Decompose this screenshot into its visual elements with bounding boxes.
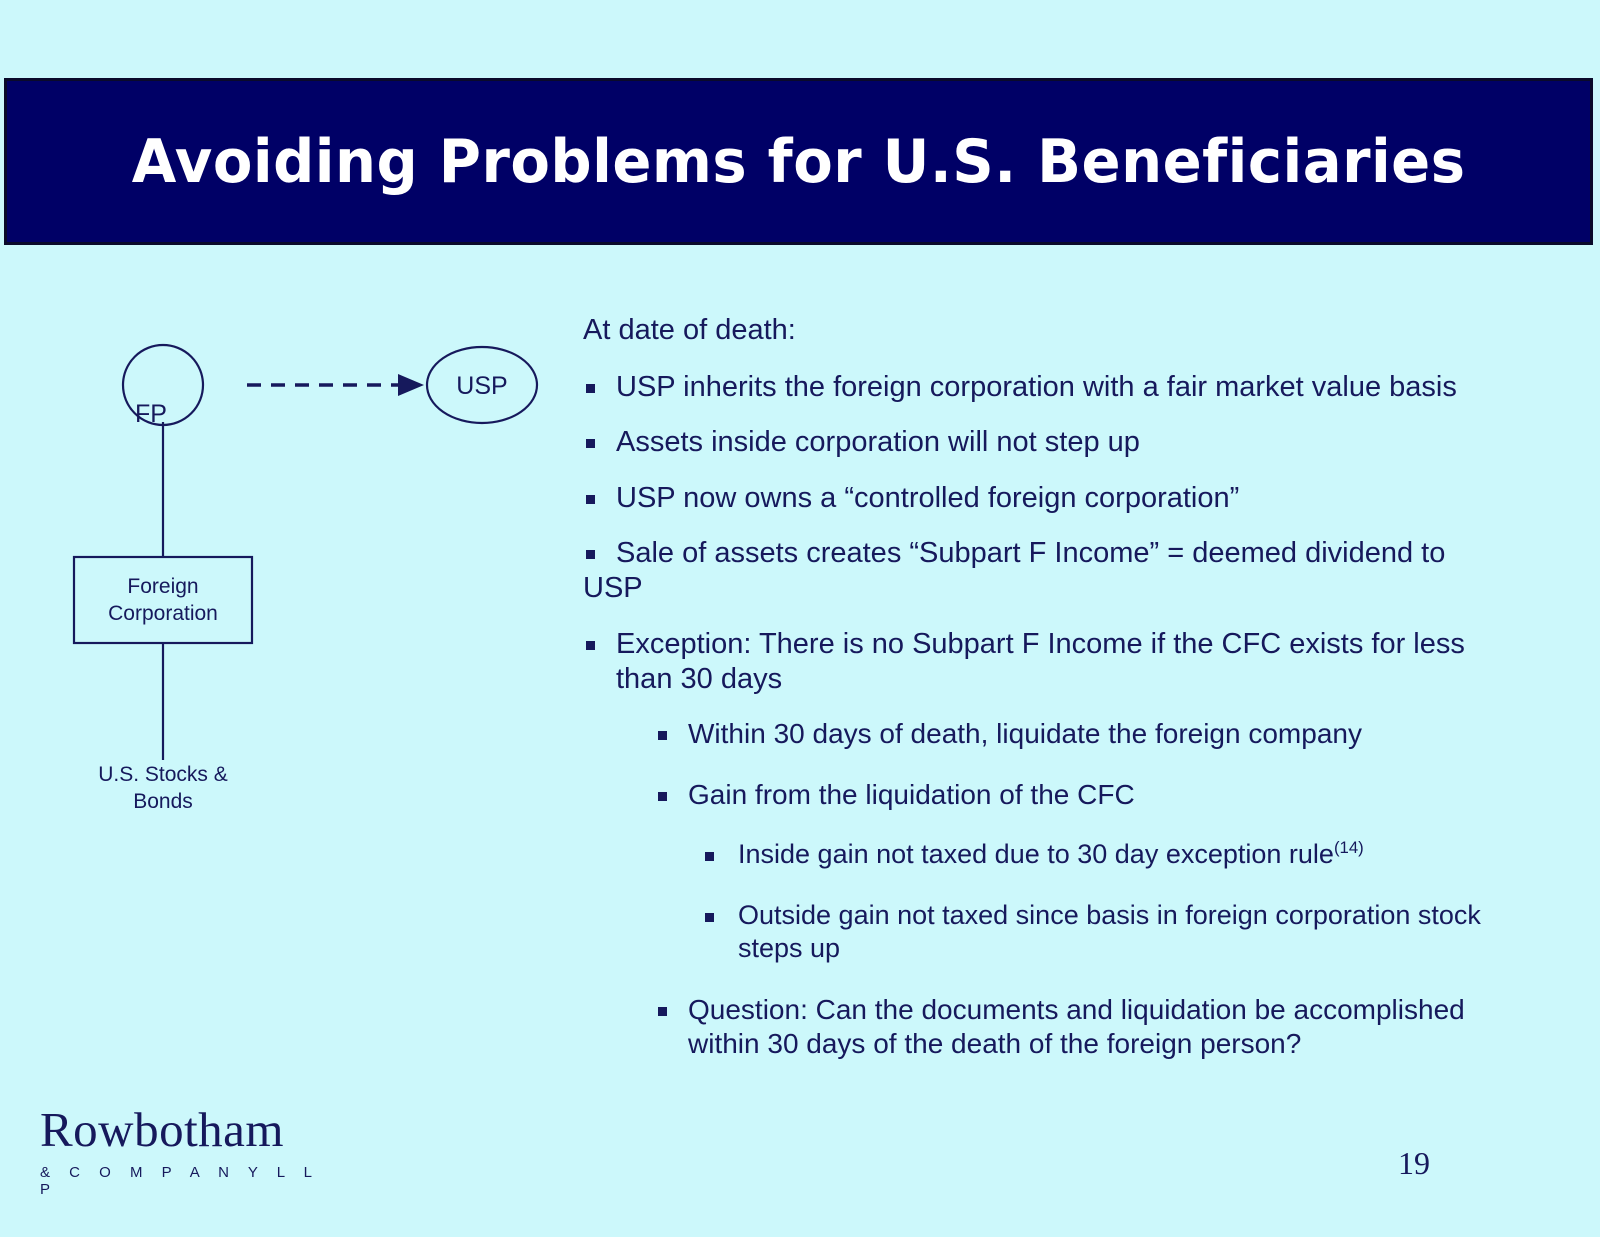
assets-label-line1: U.S. Stocks &	[98, 763, 228, 786]
slide: Avoiding Problems for U.S. Beneficiaries…	[0, 0, 1600, 1237]
usp-node-label: USP	[456, 372, 507, 400]
foreign-corporation-box-shape	[74, 557, 252, 643]
bullet-text: Assets inside corporation will not step …	[616, 426, 1140, 458]
lead-text: At date of death:	[583, 313, 1523, 348]
bullet-item: USP inherits the foreign corporation wit…	[583, 370, 1523, 405]
bullet-item: Question: Can the documents and liquidat…	[583, 993, 1523, 1061]
inheritance-arrowhead-icon	[398, 374, 424, 396]
bullet-item: Assets inside corporation will not step …	[583, 425, 1523, 460]
foreign-corporation-label-line1: Foreign	[127, 575, 198, 598]
page-number: 19	[1398, 1145, 1430, 1182]
body-content: At date of death: USP inherits the forei…	[583, 313, 1523, 1087]
logo-subtitle: & C O M P A N Y L L P	[40, 1164, 340, 1198]
page-title: Avoiding Problems for U.S. Beneficiaries	[132, 127, 1466, 197]
bullet-item: USP now owns a “controlled foreign corpo…	[583, 481, 1523, 516]
bullet-item: Exception: There is no Subpart F Income …	[583, 627, 1523, 698]
bullet-text: Exception: There is no Subpart F Income …	[616, 628, 1465, 695]
foreign-corporation-label-line2: Corporation	[108, 602, 218, 625]
bullet-text: Within 30 days of death, liquidate the f…	[688, 718, 1362, 749]
bullet-text: USP now owns a “controlled foreign corpo…	[616, 482, 1239, 514]
bullet-item: Within 30 days of death, liquidate the f…	[583, 717, 1523, 751]
slide-title-bar: Avoiding Problems for U.S. Beneficiaries	[4, 78, 1593, 245]
assets-label-line2: Bonds	[133, 790, 193, 813]
company-logo: Rowbotham & C O M P A N Y L L P	[40, 1105, 340, 1198]
fp-node-label: FP	[135, 400, 167, 428]
bullet-text: Gain from the liquidation of the CFC	[688, 779, 1135, 810]
bullet-item: Inside gain not taxed due to 30 day exce…	[583, 838, 1523, 871]
footnote-marker: (14)	[1334, 838, 1364, 857]
bullet-text: Outside gain not taxed since basis in fo…	[738, 900, 1481, 963]
bullet-text-continuation: USP	[583, 571, 1523, 606]
bullet-item: Sale of assets creates “Subpart F Income…	[583, 536, 1523, 607]
ownership-diagram: FP USP Foreign Corporation U.S. Stocks &…	[0, 300, 560, 860]
logo-name: Rowbotham	[40, 1105, 340, 1154]
bullet-text: Question: Can the documents and liquidat…	[688, 994, 1465, 1059]
bullet-text: USP inherits the foreign corporation wit…	[616, 371, 1457, 403]
bullet-item: Outside gain not taxed since basis in fo…	[583, 899, 1523, 965]
bullet-text: Inside gain not taxed due to 30 day exce…	[738, 839, 1334, 869]
bullet-item: Gain from the liquidation of the CFC	[583, 778, 1523, 812]
bullet-text: Sale of assets creates “Subpart F Income…	[616, 537, 1445, 569]
